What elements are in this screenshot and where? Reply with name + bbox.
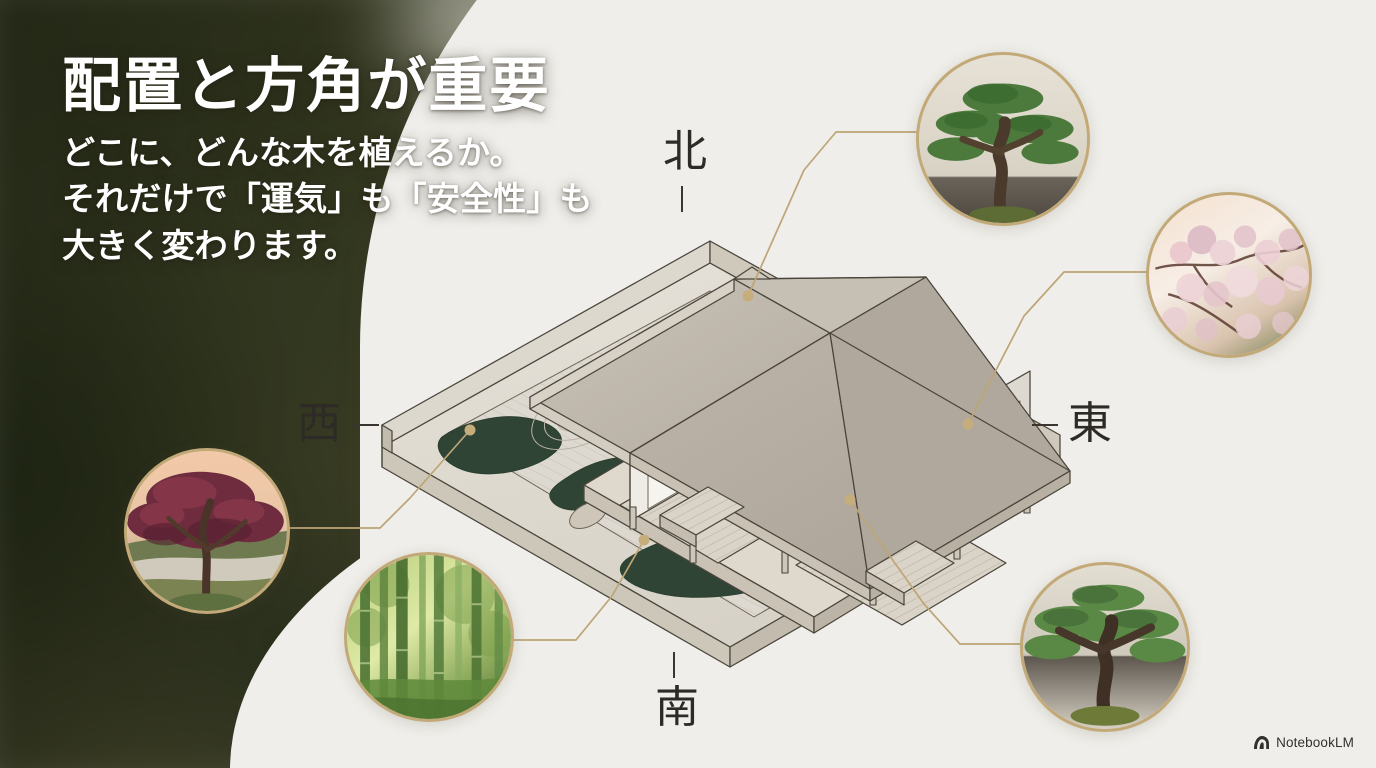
japanese-maple-photo xyxy=(127,451,287,611)
compass-label-south: 南 xyxy=(655,686,699,730)
notebooklm-watermark: NotebookLM xyxy=(1253,735,1354,750)
page-subtitle: どこに、どんな木を植えるか。 それだけで「運気」も「安全性」も 大きく変わります… xyxy=(62,130,702,271)
compass-label-west-text: 西 xyxy=(297,399,341,448)
pine-bonsai-photo xyxy=(919,55,1087,223)
subtitle-line-3: 大きく変わります。 xyxy=(62,223,702,270)
subtitle-line-2: それだけで「運気」も「安全性」も xyxy=(62,176,702,223)
photo-bubble-pine-southeast xyxy=(1020,562,1190,732)
notebooklm-spiral-icon xyxy=(1253,735,1270,750)
photo-bubble-pine-north xyxy=(916,52,1090,226)
compass-label-south-text: 南 xyxy=(655,683,699,732)
photo-bubble-sakura-east xyxy=(1146,192,1312,358)
notebooklm-label: NotebookLM xyxy=(1276,735,1354,750)
cherry-blossom-photo xyxy=(1149,195,1309,355)
photo-bubble-maple-west xyxy=(124,448,290,614)
bamboo-grove-photo xyxy=(347,555,511,719)
page-title: 配置と方角が重要 xyxy=(62,52,702,122)
infographic-canvas: 配置と方角が重要 どこに、どんな木を植えるか。 それだけで「運気」も「安全性」も… xyxy=(0,0,1376,768)
compass-label-east: 東 xyxy=(1068,402,1112,446)
compass-tick-south xyxy=(673,652,675,678)
heading-block: 配置と方角が重要 どこに、どんな木を植えるか。 それだけで「運気」も「安全性」も… xyxy=(62,52,702,270)
compass-tick-west xyxy=(353,424,379,426)
compass-tick-east xyxy=(1032,424,1058,426)
compass-label-west: 西 xyxy=(297,402,341,446)
compass-label-east-text: 東 xyxy=(1068,399,1112,448)
pine-bonsai-photo xyxy=(1023,565,1187,729)
subtitle-line-1: どこに、どんな木を植えるか。 xyxy=(62,130,702,177)
photo-bubble-bamboo-south xyxy=(344,552,514,722)
